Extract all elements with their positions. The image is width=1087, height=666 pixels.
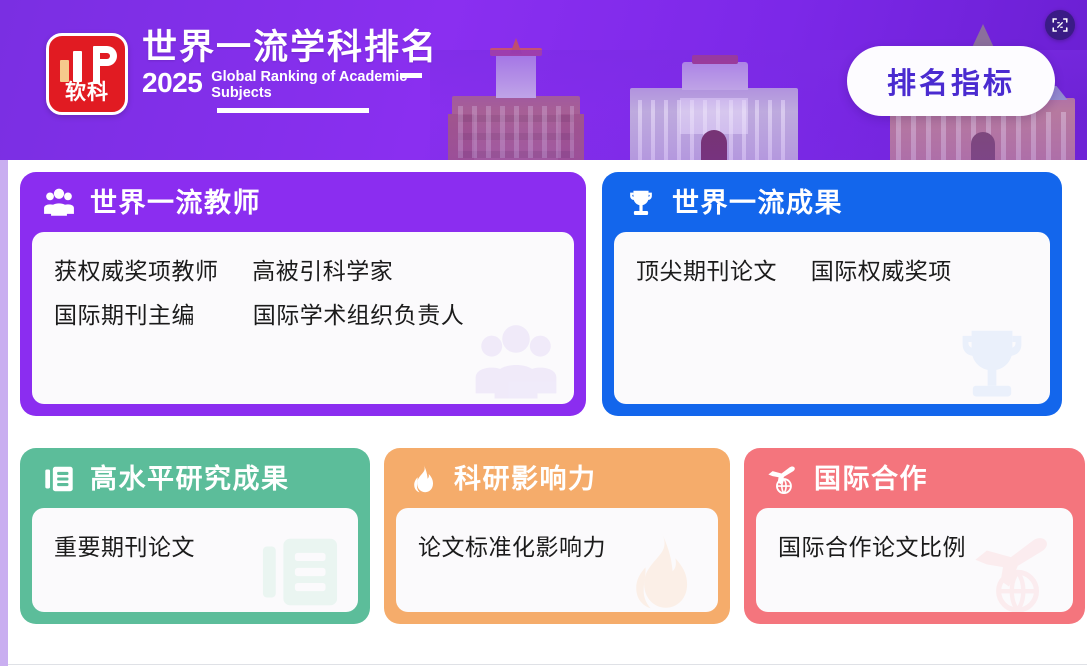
card-item-row: 获权威奖项教师 高被引科学家	[54, 250, 552, 294]
card-title-research: 高水平研究成果	[90, 466, 290, 493]
people-group-glyph	[42, 186, 76, 220]
indicator-card-cooperation[interactable]: 国际合作 国际合作论文比例	[744, 448, 1085, 624]
card-item-row: 国际期刊主编 国际学术组织负责人	[54, 294, 552, 338]
flame-icon	[406, 462, 440, 496]
plane-globe-glyph	[766, 462, 800, 496]
fullscreen-glyph	[1051, 16, 1069, 34]
card-title-cooperation: 国际合作	[814, 466, 928, 493]
people-group-icon	[42, 186, 76, 220]
card-title-faculty: 世界一流教师	[90, 190, 261, 217]
indicator-row-top: 世界一流教师 获权威奖项教师 高被引科学家	[20, 172, 1062, 416]
card-item-row: 顶尖期刊论文 国际权威奖项	[636, 250, 1028, 294]
flame-glyph	[406, 462, 440, 496]
card-body-output: 顶尖期刊论文 国际权威奖项	[614, 232, 1050, 404]
fullscreen-icon[interactable]	[1045, 10, 1075, 40]
card-item-row: 国际合作论文比例	[778, 526, 1051, 570]
banner-title-en-text: Global Ranking of Academic Subjects	[211, 69, 407, 102]
card-body-impact: 论文标准化影响力	[396, 508, 718, 612]
card-item: 获权威奖项教师	[54, 258, 219, 284]
card-header-research: 高水平研究成果	[20, 448, 370, 508]
trophy-icon	[624, 186, 658, 220]
card-items-cooperation: 国际合作论文比例	[756, 508, 1073, 588]
card-items-output: 顶尖期刊论文 国际权威奖项	[614, 232, 1050, 312]
indicator-card-research[interactable]: 高水平研究成果 重要期刊论文	[20, 448, 370, 624]
indicator-card-output[interactable]: 世界一流成果 顶尖期刊论文 国际权威奖项	[602, 172, 1062, 416]
card-body-cooperation: 国际合作论文比例	[756, 508, 1073, 612]
card-header-faculty: 世界一流教师	[20, 172, 586, 232]
indicator-card-faculty[interactable]: 世界一流教师 获权威奖项教师 高被引科学家	[20, 172, 586, 416]
page-title: 世界一流学科排名	[142, 30, 438, 67]
card-items-faculty: 获权威奖项教师 高被引科学家 国际期刊主编 国际学术组织负责人	[32, 232, 574, 355]
card-body-faculty: 获权威奖项教师 高被引科学家 国际期刊主编 国际学术组织负责人	[32, 232, 574, 404]
card-body-research: 重要期刊论文	[32, 508, 358, 612]
banner-title-group: 世界一流学科排名 2025 Global Ranking of Academic…	[142, 30, 438, 119]
card-item: 重要期刊论文	[54, 534, 195, 560]
card-title-output: 世界一流成果	[672, 190, 843, 217]
banner-title-en: Global Ranking of Academic Subjects	[211, 69, 416, 119]
card-item: 国际权威奖项	[811, 258, 952, 284]
trophy-glyph	[624, 186, 658, 220]
trophy-watermark-icon	[946, 318, 1038, 404]
card-header-impact: 科研影响力	[384, 448, 730, 508]
card-header-cooperation: 国际合作	[744, 448, 1085, 508]
indicator-row-bottom: 高水平研究成果 重要期刊论文	[20, 448, 1085, 624]
card-item-row: 论文标准化影响力	[418, 526, 696, 570]
card-item: 国际学术组织负责人	[253, 302, 465, 328]
banner-subtitle: 2025 Global Ranking of Academic Subjects	[142, 69, 438, 119]
card-item: 论文标准化影响力	[418, 534, 606, 560]
rank-indicator-pill[interactable]: 排名指标	[847, 46, 1055, 116]
plane-globe-icon	[766, 462, 800, 496]
logo-brand-text: 软科	[49, 82, 125, 103]
card-items-research: 重要期刊论文	[32, 508, 358, 588]
left-edge-strip	[0, 160, 8, 666]
card-item-row: 重要期刊论文	[54, 526, 336, 570]
indicators-panel: 世界一流教师 获权威奖项教师 高被引科学家	[8, 160, 1087, 666]
card-header-output: 世界一流成果	[602, 172, 1062, 232]
ruanke-logo-icon: 软科	[46, 33, 128, 115]
card-title-impact: 科研影响力	[454, 466, 597, 493]
page-root: 软科 世界一流学科排名 2025 Global Ranking of Acade…	[0, 0, 1087, 666]
brand-logo-block[interactable]: 软科 世界一流学科排名 2025 Global Ranking of Acade…	[46, 30, 438, 119]
card-items-impact: 论文标准化影响力	[396, 508, 718, 588]
card-item: 国际合作论文比例	[778, 534, 966, 560]
bottom-divider	[8, 664, 1087, 665]
indicator-card-impact[interactable]: 科研影响力 论文标准化影响力	[384, 448, 730, 624]
banner-year: 2025	[142, 69, 202, 97]
card-item: 高被引科学家	[252, 258, 393, 284]
card-item: 顶尖期刊论文	[636, 258, 777, 284]
card-item: 国际期刊主编	[54, 302, 195, 328]
document-list-glyph	[42, 462, 76, 496]
document-list-icon	[42, 462, 76, 496]
page-banner: 软科 世界一流学科排名 2025 Global Ranking of Acade…	[0, 0, 1087, 162]
